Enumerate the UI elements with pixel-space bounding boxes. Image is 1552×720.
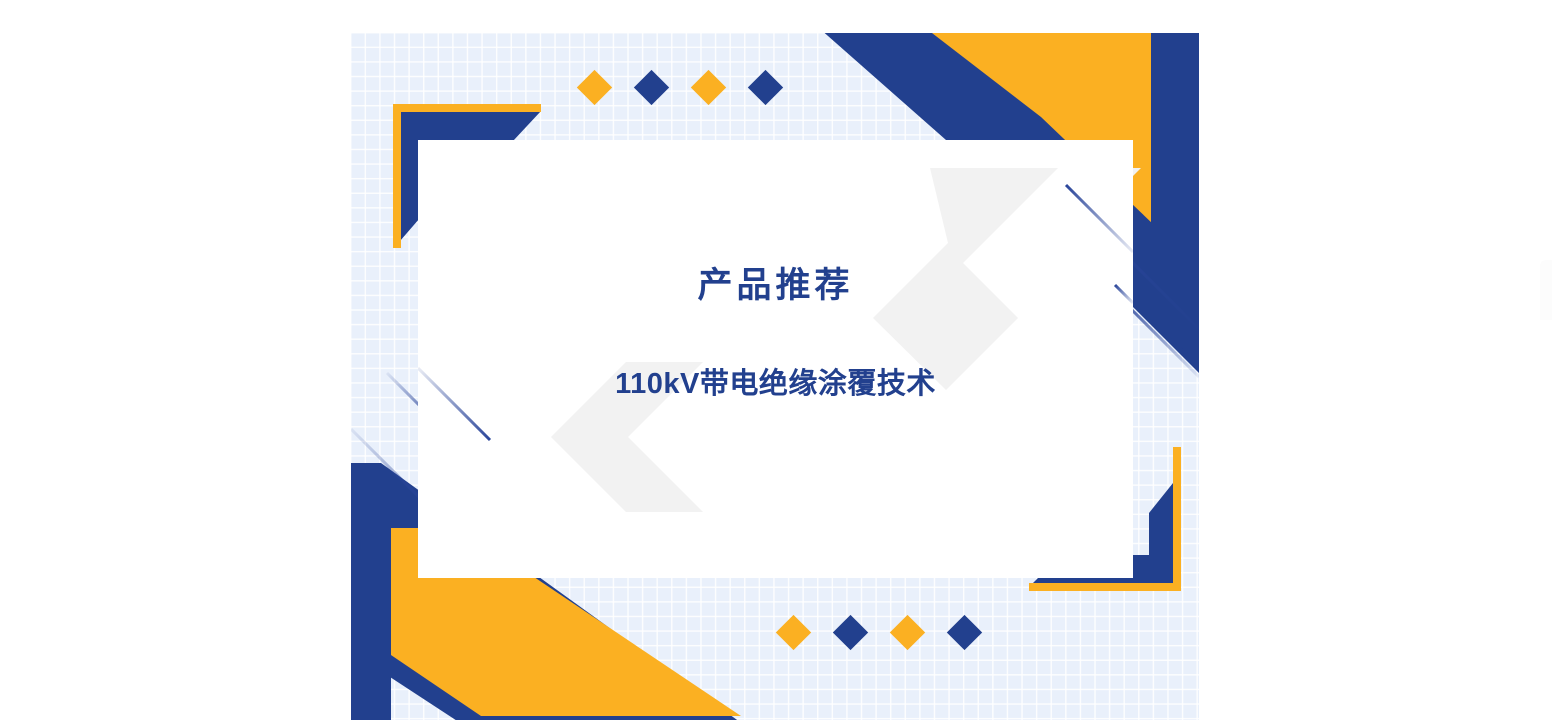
slide-text-block: 产品推荐 110kV带电绝缘涂覆技术 xyxy=(418,140,1133,578)
content-card: 产品推荐 110kV带电绝缘涂覆技术 xyxy=(418,140,1133,578)
br-bracket-orange-horizontal xyxy=(1029,583,1181,591)
diamond-top-1 xyxy=(577,70,612,105)
page-subtitle: 110kV带电绝缘涂覆技术 xyxy=(615,370,936,399)
diamond-top-4 xyxy=(748,70,783,105)
top-diamond-row xyxy=(577,70,783,105)
bottom-diamond-row xyxy=(776,615,982,650)
diamond-bottom-4 xyxy=(947,615,982,650)
diamond-bottom-3 xyxy=(890,615,925,650)
right-edge-artifact xyxy=(1540,260,1552,320)
diamond-top-2 xyxy=(634,70,669,105)
diamond-top-3 xyxy=(691,70,726,105)
tl-bracket-orange-vertical xyxy=(393,104,401,248)
br-bracket-orange-vertical xyxy=(1173,447,1181,591)
page-title: 产品推荐 xyxy=(697,268,853,303)
content-card-inner: 产品推荐 110kV带电绝缘涂覆技术 xyxy=(418,140,1133,578)
tl-bracket-orange-horizontal xyxy=(393,104,541,112)
diamond-bottom-2 xyxy=(833,615,868,650)
screenshot-canvas: 产品推荐 110kV带电绝缘涂覆技术 xyxy=(0,0,1552,720)
diamond-bottom-1 xyxy=(776,615,811,650)
presentation-slide: 产品推荐 110kV带电绝缘涂覆技术 xyxy=(351,33,1199,720)
